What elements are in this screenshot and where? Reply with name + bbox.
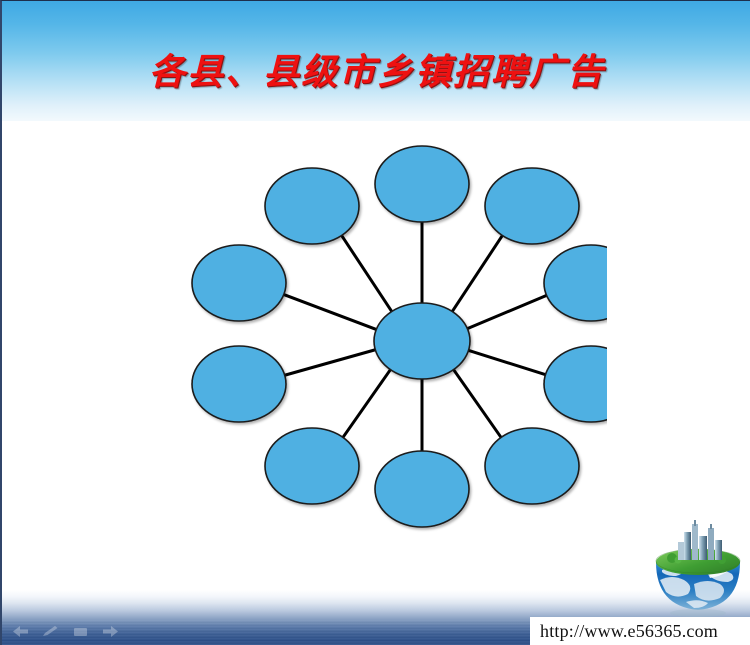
spoke-line: [453, 369, 502, 438]
diagram-node-1-shape: [375, 146, 469, 222]
previous-slide-button[interactable]: [10, 624, 31, 639]
square-icon: [74, 628, 87, 636]
diagram-node-1[interactable]: [375, 146, 469, 222]
spoke-line: [284, 350, 376, 376]
slideshow-nav-controls[interactable]: [10, 624, 121, 639]
presentation-slide: 各县、县级市乡镇招聘广告: [0, 0, 750, 645]
diagram-node-6[interactable]: [375, 451, 469, 527]
website-url-text: http://www.e56365.com: [540, 621, 718, 642]
spoke-line: [467, 295, 548, 329]
diagram-node-6-shape: [375, 451, 469, 527]
diagram-hub-node-shape: [374, 303, 470, 379]
diagram-node-5[interactable]: [485, 428, 579, 504]
globe-city-logo: [650, 518, 746, 618]
pen-icon: [43, 626, 58, 636]
spoke-line: [468, 350, 547, 375]
diagram-node-8[interactable]: [192, 346, 286, 422]
diagram-node-8-shape: [192, 346, 286, 422]
diagram-node-9[interactable]: [192, 245, 286, 321]
diagram-node-3[interactable]: [544, 245, 607, 321]
city-buildings: [678, 520, 722, 560]
globe-reflection: [670, 609, 726, 617]
page-title: 各县、县级市乡镇招聘广告: [2, 43, 750, 95]
diagram-node-7[interactable]: [265, 428, 359, 504]
diagram-node-4-shape: [544, 346, 607, 422]
diagram-node-9-shape: [192, 245, 286, 321]
diagram-node-4[interactable]: [544, 346, 607, 422]
diagram-hub-node[interactable]: [374, 303, 470, 379]
spoke-line: [342, 369, 391, 438]
diagram-node-2-shape: [485, 168, 579, 244]
next-slide-button[interactable]: [100, 624, 121, 639]
slide-menu-button[interactable]: [70, 624, 91, 639]
spoke-line: [283, 294, 377, 330]
diagram-node-7-shape: [265, 428, 359, 504]
spoke-line: [452, 235, 503, 313]
spoke-line: [341, 235, 392, 313]
arrow-right-icon: [103, 626, 118, 637]
arrow-left-icon: [13, 626, 28, 637]
website-url-plate: http://www.e56365.com: [530, 617, 750, 645]
diagram-hub: [374, 303, 470, 379]
diagram-node-10[interactable]: [265, 168, 359, 244]
diagram-node-3-shape: [544, 245, 607, 321]
diagram-node-10-shape: [265, 168, 359, 244]
radial-hub-and-spoke-diagram: [177, 126, 607, 546]
diagram-node-5-shape: [485, 428, 579, 504]
diagram-node-2[interactable]: [485, 168, 579, 244]
pen-tool-button[interactable]: [40, 624, 61, 639]
